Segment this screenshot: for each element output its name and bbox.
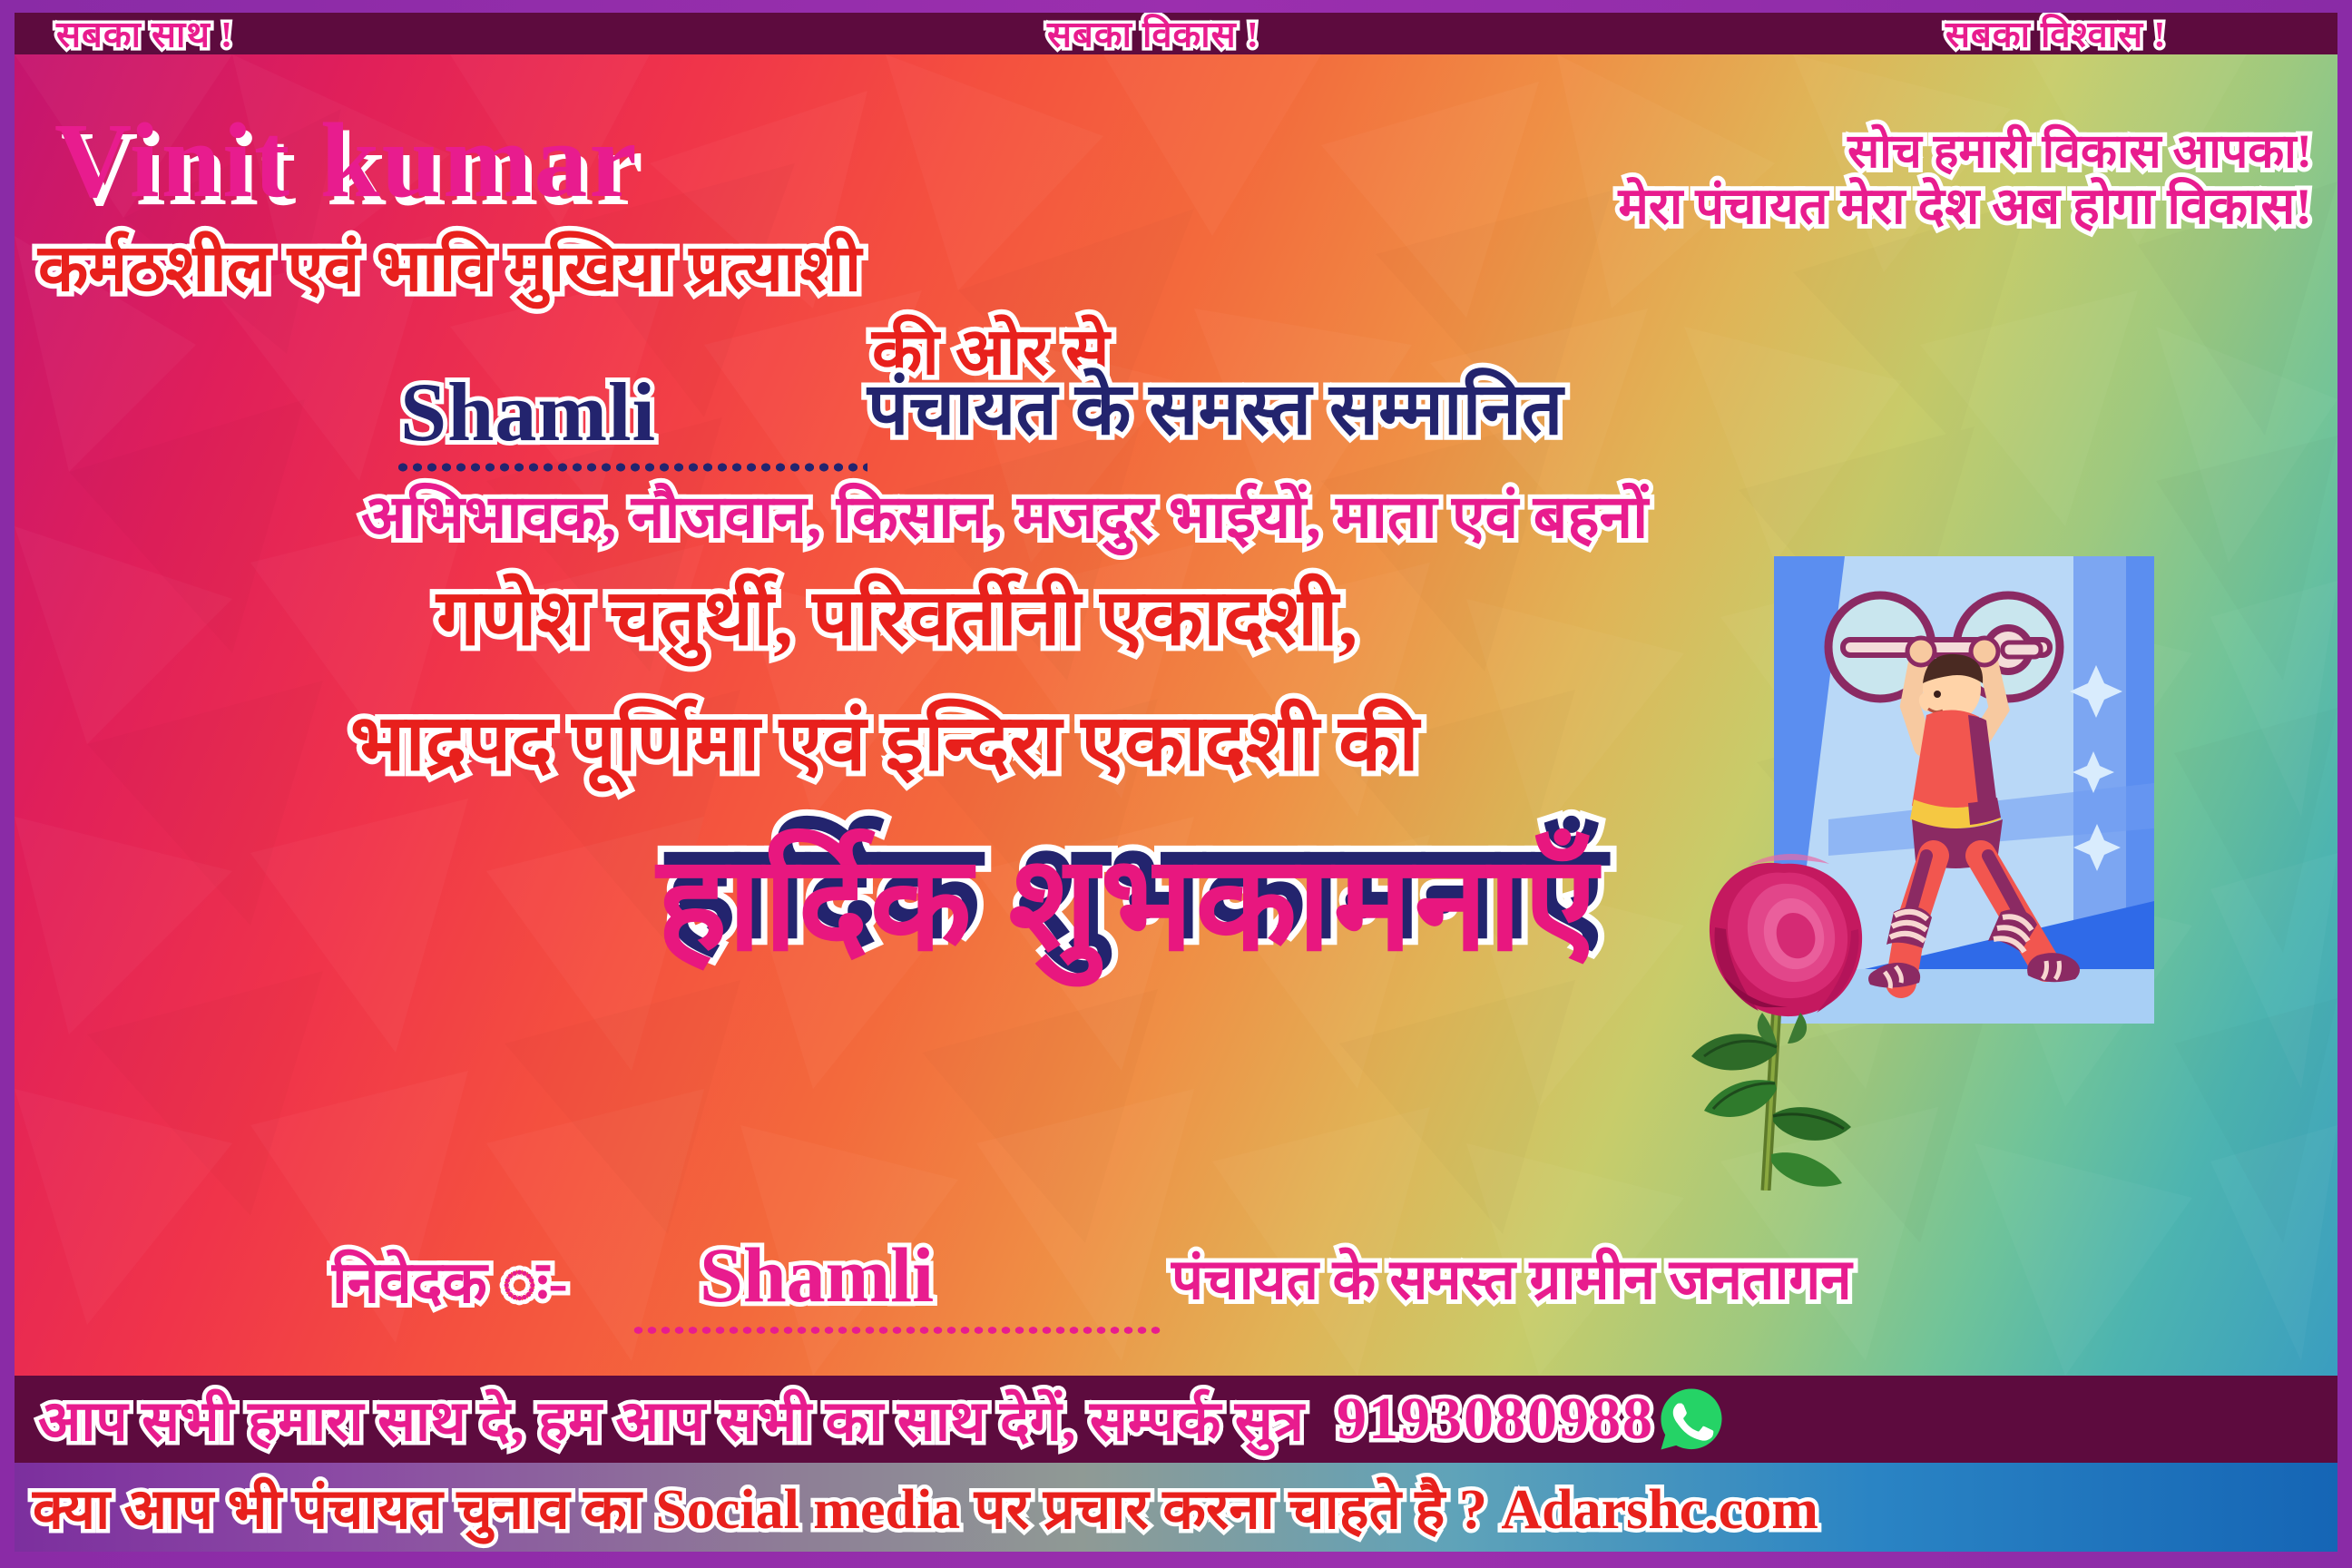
submitted-by-label: निवेदक ः-: [332, 1254, 568, 1312]
place-name-bottom: Shamli: [700, 1236, 934, 1314]
phone-number[interactable]: 9193080988: [1337, 1385, 1654, 1454]
candidate-name: Vinit kumar: [54, 107, 639, 214]
election-greeting-poster: Vinit kumar कर्मठशील एवं भावि मुखिया प्र…: [0, 0, 2352, 1568]
whatsapp-glyph: [1658, 1386, 1725, 1453]
promo-band: क्या आप भी पंचायत चुनाव का Social media …: [15, 1463, 2337, 1552]
greeting-shadow: हार्दिक शुभकामनाएँ: [657, 838, 1599, 971]
slogan-sabka-vishwas: सबका विश्वास !: [1945, 7, 2167, 57]
frame-bottom: [0, 1552, 2352, 1568]
audience-line: अभिभावक, नौजवान, किसान, मजदुर भाईयों, मा…: [361, 488, 1648, 548]
festival-line-2: भाद्रपद पूर्णिमा एवं इन्दिरा एकादशी की: [350, 704, 1419, 782]
top-right-slogans: सोच हमारी विकास आपका! मेरा पंचायत मेरा द…: [1618, 125, 2312, 237]
place-underline-dots-top: [396, 461, 867, 474]
slogan-sabka-vikas: सबका विकास !: [1047, 7, 1259, 57]
frame-left: [0, 0, 15, 1568]
festival-line-1: गणेश चतुर्थी, परिवर्तीनी एकादशी,: [436, 579, 1357, 657]
frame-top: [0, 0, 2352, 13]
top-slogan-band: सबका साथ ! सबका विकास ! सबका विश्वास !: [15, 13, 2337, 54]
rose-graphic: [1664, 809, 1936, 1191]
slogan-sabka-saath: सबका साथ !: [56, 7, 233, 57]
rose-flower-image: [1664, 809, 1936, 1191]
place-name-top: Shamli: [400, 370, 656, 454]
whatsapp-icon[interactable]: [1658, 1386, 1725, 1453]
place-underline-dots-bottom: [632, 1325, 1162, 1336]
frame-right: [2337, 0, 2352, 1568]
main-content-area: Vinit kumar कर्मठशील एवं भावि मुखिया प्र…: [15, 54, 2337, 1376]
candidate-designation: कर्मठशील एवं भावि मुखिया प्रत्याशी: [38, 236, 861, 301]
villagers-line: पंचायत के समस्त ग्रामीन जनतागन: [1171, 1252, 1852, 1308]
contact-band: आप सभी हमारा साथ दे, हम आप सभी का साथ दे…: [15, 1376, 2337, 1463]
promo-text[interactable]: क्या आप भी पंचायत चुनाव का Social media …: [33, 1469, 1818, 1545]
top-right-slogan-1: सोच हमारी विकास आपका!: [1618, 125, 2312, 179]
top-right-slogan-2: मेरा पंचायत मेरा देश अब होगा विकास!: [1618, 179, 2312, 237]
support-message: आप सभी हमारा साथ दे, हम आप सभी का साथ दे…: [38, 1381, 1304, 1457]
panchayat-line: पंचायत के समस्त सम्मानित: [867, 374, 1563, 446]
